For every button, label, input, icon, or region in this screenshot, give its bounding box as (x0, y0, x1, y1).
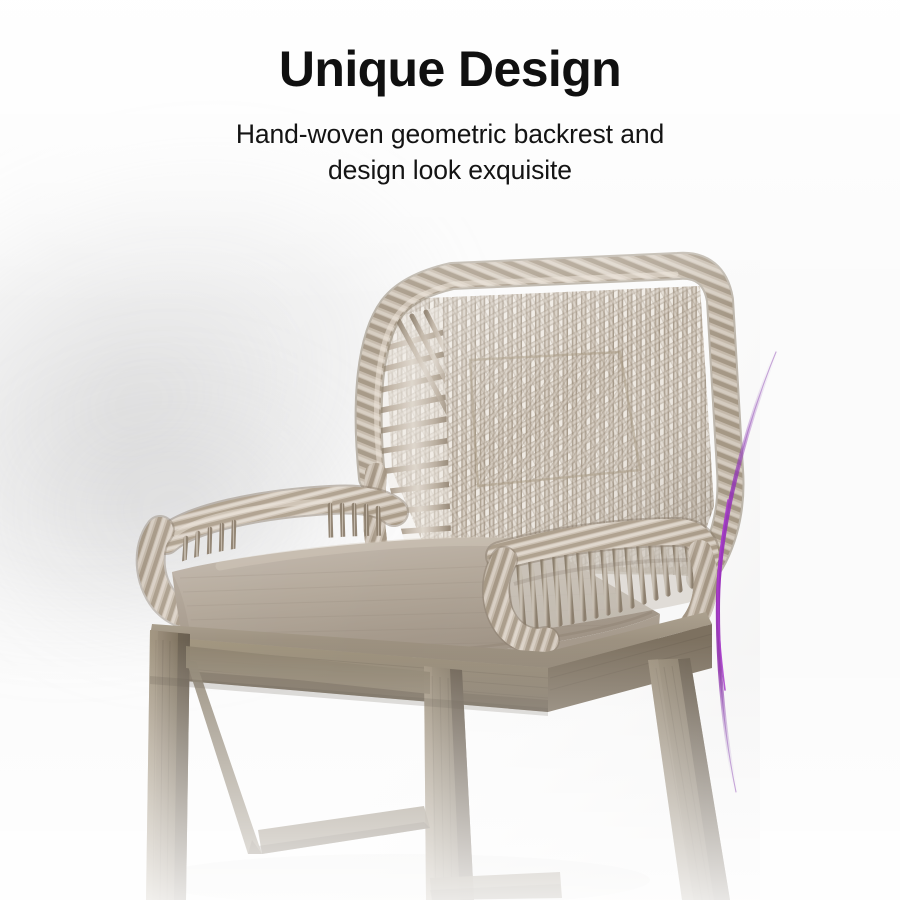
product-feature-image: Unique Design Hand-woven geometric backr… (0, 0, 900, 900)
product-image-bar-stool (0, 0, 900, 900)
